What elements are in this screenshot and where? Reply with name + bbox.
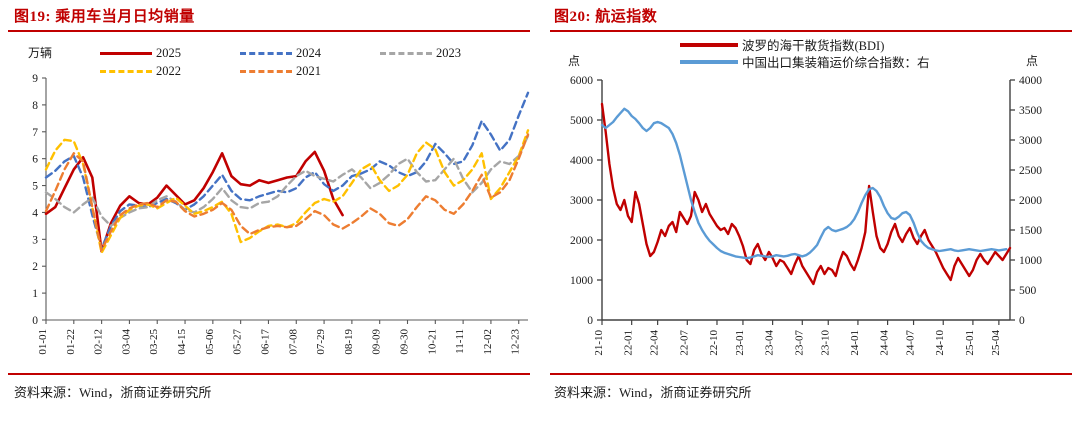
- figure-19-source-rule: [8, 373, 530, 375]
- svg-text:11-11: 11-11: [454, 329, 466, 354]
- svg-text:2000: 2000: [1019, 195, 1042, 207]
- svg-text:3000: 3000: [570, 195, 593, 207]
- svg-text:05-06: 05-06: [204, 329, 216, 355]
- figure-20-plot: 0100020003000400050006000050010001500200…: [540, 70, 1080, 370]
- svg-text:01-22: 01-22: [65, 329, 77, 355]
- svg-text:12-23: 12-23: [510, 329, 522, 355]
- svg-text:0: 0: [32, 315, 38, 327]
- legend-line-icon-2023: [380, 52, 432, 55]
- svg-text:3000: 3000: [1019, 135, 1042, 147]
- svg-text:2500: 2500: [1019, 165, 1042, 177]
- legend-item-ccfi[interactable]: 中国出口集装箱运价综合指数：右: [680, 52, 930, 71]
- legend-label-2024: 2024: [296, 46, 321, 61]
- svg-text:23-01: 23-01: [734, 330, 746, 356]
- figure-19-source: 资料来源：Wind，浙商证券研究所: [14, 382, 211, 401]
- svg-text:07-08: 07-08: [287, 329, 299, 355]
- svg-text:9: 9: [32, 73, 38, 85]
- svg-text:24-10: 24-10: [934, 330, 946, 356]
- legend-item-2023[interactable]: 2023: [380, 46, 520, 61]
- figure-19-title-rule: [8, 30, 530, 32]
- svg-text:1000: 1000: [570, 275, 593, 287]
- figures-page: 图19: 乘用车当月日均销量 万辆 2025 2024 2023: [0, 0, 1080, 424]
- svg-text:500: 500: [1019, 285, 1037, 297]
- svg-text:09-09: 09-09: [371, 329, 383, 355]
- figure-20-left-unit: 点: [568, 52, 580, 69]
- svg-text:24-01: 24-01: [849, 330, 861, 356]
- svg-text:10-21: 10-21: [426, 329, 438, 355]
- svg-text:02-12: 02-12: [93, 329, 105, 355]
- svg-text:08-19: 08-19: [343, 329, 355, 355]
- legend-label-2023: 2023: [436, 46, 461, 61]
- figure-19-left-unit: 万辆: [28, 44, 52, 61]
- figure-20-title: 图20: 航运指数: [554, 5, 657, 26]
- svg-text:03-04: 03-04: [120, 329, 132, 355]
- legend-label-2025: 2025: [156, 46, 181, 61]
- svg-text:2: 2: [32, 261, 38, 273]
- svg-text:03-25: 03-25: [148, 329, 160, 355]
- figure-panel-20: 图20: 航运指数 点 点 波罗的海干散货指数(BDI) 中国出口集装箱运价综合…: [540, 0, 1080, 424]
- svg-text:07-29: 07-29: [315, 329, 327, 355]
- svg-text:1500: 1500: [1019, 225, 1042, 237]
- figure-19-plot: 012345678901-0101-2202-1203-0403-2504-15…: [0, 70, 540, 370]
- svg-text:22-01: 22-01: [623, 330, 635, 356]
- svg-text:8: 8: [32, 100, 38, 112]
- legend-label-ccfi: 中国出口集装箱运价综合指数：右: [742, 52, 930, 71]
- svg-text:01-01: 01-01: [37, 329, 49, 355]
- svg-text:24-07: 24-07: [905, 330, 917, 356]
- svg-text:23-10: 23-10: [819, 330, 831, 356]
- figure-19-title: 图19: 乘用车当月日均销量: [14, 5, 195, 26]
- svg-text:1: 1: [32, 288, 38, 300]
- svg-text:04-15: 04-15: [176, 329, 188, 355]
- svg-text:4000: 4000: [1019, 75, 1042, 87]
- svg-text:7: 7: [32, 127, 38, 139]
- svg-text:5000: 5000: [570, 115, 593, 127]
- svg-text:3500: 3500: [1019, 105, 1042, 117]
- legend-line-icon-ccfi: [680, 60, 738, 64]
- svg-text:25-04: 25-04: [990, 330, 1002, 356]
- svg-text:25-01: 25-01: [964, 330, 976, 356]
- svg-text:22-07: 22-07: [678, 330, 690, 356]
- svg-text:05-27: 05-27: [232, 329, 244, 355]
- svg-text:5: 5: [32, 181, 38, 193]
- svg-text:21-10: 21-10: [593, 330, 605, 356]
- figure-20-right-unit: 点: [1026, 52, 1038, 69]
- svg-text:4000: 4000: [570, 155, 593, 167]
- svg-text:06-17: 06-17: [259, 329, 271, 355]
- svg-text:1000: 1000: [1019, 255, 1042, 267]
- svg-text:22-10: 22-10: [708, 330, 720, 356]
- legend-line-icon-bdi: [680, 43, 738, 47]
- svg-text:2000: 2000: [570, 235, 593, 247]
- legend-item-2024[interactable]: 2024: [240, 46, 380, 61]
- figure-panel-19: 图19: 乘用车当月日均销量 万辆 2025 2024 2023: [0, 0, 540, 424]
- svg-text:0: 0: [1019, 315, 1025, 327]
- svg-text:22-04: 22-04: [649, 330, 661, 356]
- svg-text:0: 0: [587, 315, 593, 327]
- figure-20-source: 资料来源：Wind，浙商证券研究所: [554, 382, 751, 401]
- figure-20-source-rule: [550, 373, 1072, 375]
- svg-text:6: 6: [32, 154, 38, 166]
- legend-item-2025[interactable]: 2025: [100, 46, 240, 61]
- svg-text:23-07: 23-07: [793, 330, 805, 356]
- figure-20-legend: 波罗的海干散货指数(BDI) 中国出口集装箱运价综合指数：右: [680, 36, 930, 70]
- figure-20-title-rule: [550, 30, 1072, 32]
- svg-text:12-02: 12-02: [482, 329, 494, 355]
- legend-line-icon-2025: [100, 52, 152, 55]
- svg-text:6000: 6000: [570, 75, 593, 87]
- svg-text:23-04: 23-04: [764, 330, 776, 356]
- svg-text:3: 3: [32, 234, 38, 246]
- svg-text:24-04: 24-04: [879, 330, 891, 356]
- svg-text:4: 4: [32, 207, 38, 219]
- legend-line-icon-2024: [240, 52, 292, 55]
- svg-text:09-30: 09-30: [399, 329, 411, 355]
